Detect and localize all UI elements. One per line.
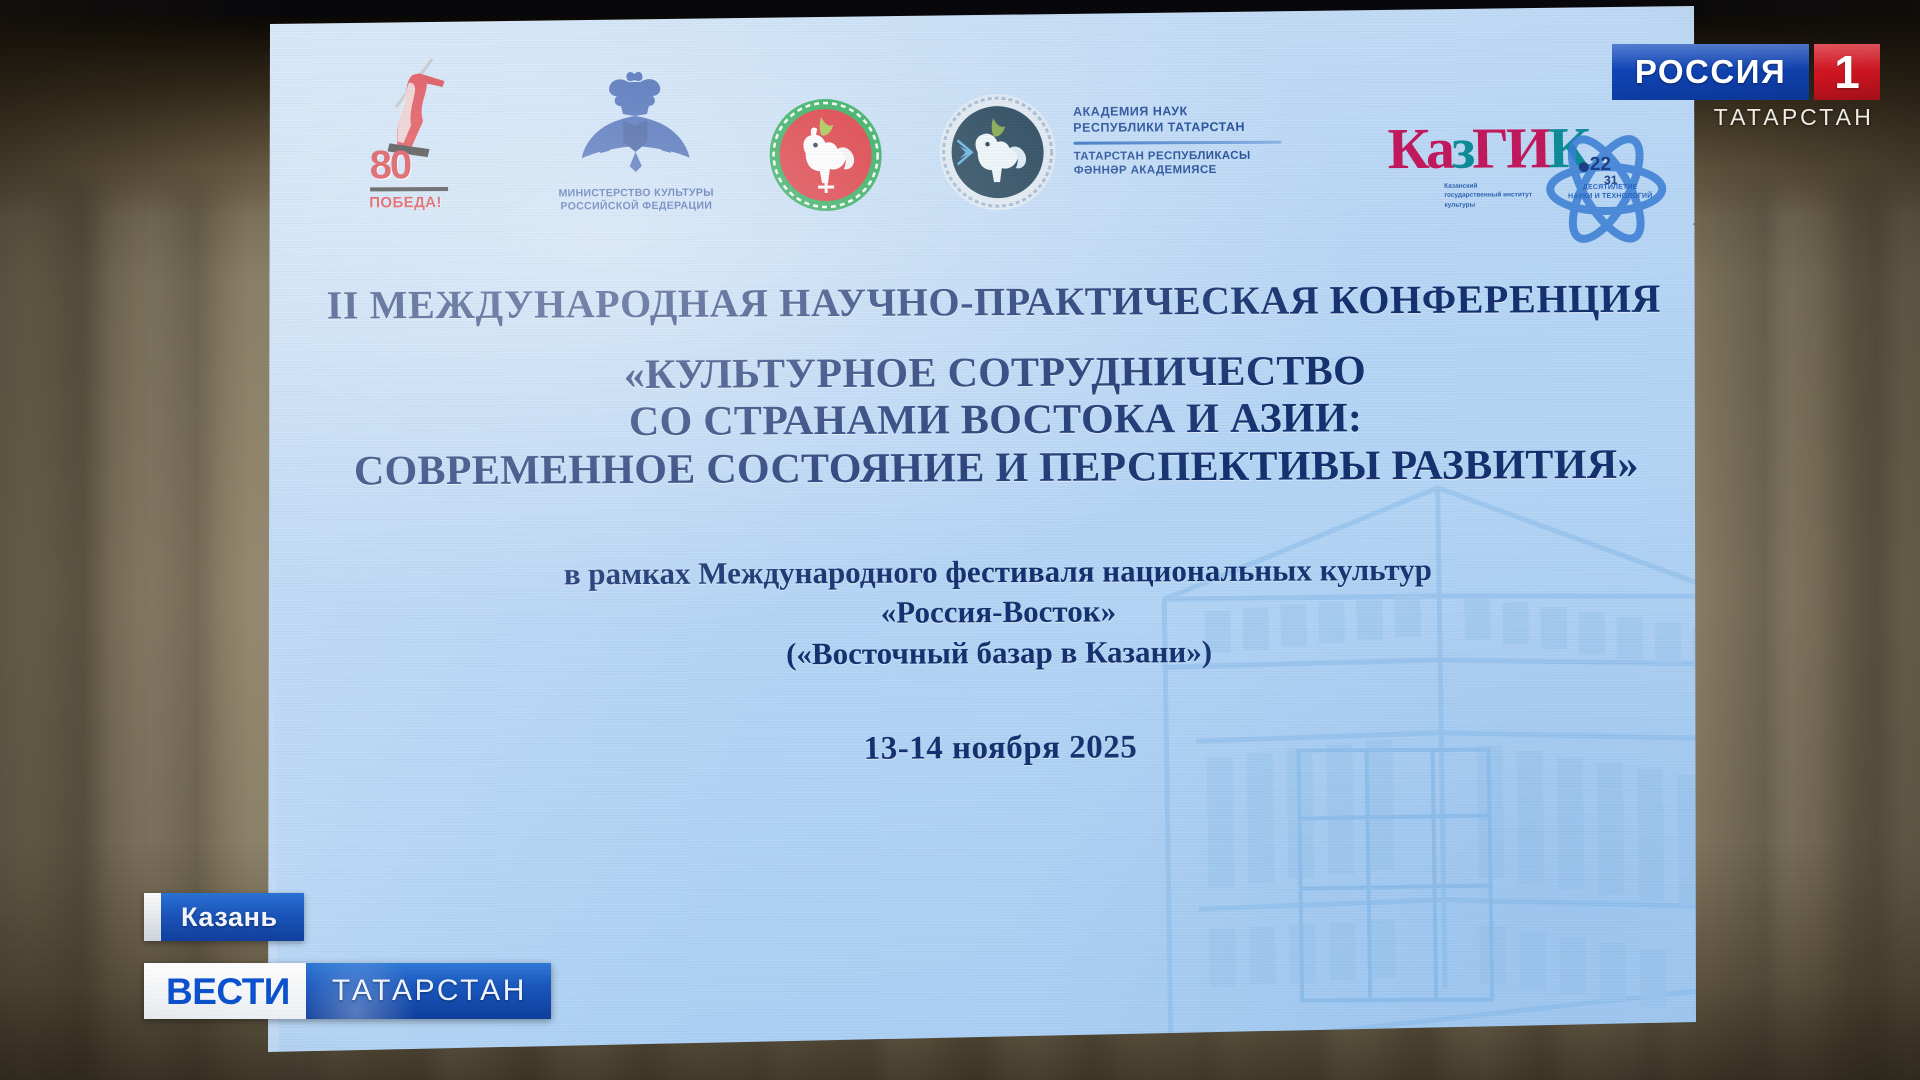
academy-text-block: АКАДЕМИЯ НАУКРЕСПУБЛИКИ ТАТАРСТАН ТАТАРС… xyxy=(1073,102,1364,179)
network-name-block: РОССИЯ xyxy=(1612,44,1809,100)
location-tag: Казань xyxy=(144,893,304,941)
channel-bug-row: РОССИЯ 1 xyxy=(1612,44,1880,100)
conference-theme: «КУЛЬТУРНОЕ СОТРУДНИЧЕСТВО СО СТРАНАМИ В… xyxy=(269,346,1723,496)
kazgik-subtext: Казанскийгосударственный институткультур… xyxy=(1444,181,1538,210)
festival-framework: в рамках Международного фестиваля национ… xyxy=(272,548,1726,676)
location-tag-body: Казань xyxy=(161,893,304,941)
projection-screen: 80 ПОБЕДА! xyxy=(268,6,1696,1052)
academy-name-tt: ТАТАРСТАН РЕСПУБЛИКАСЫФӘННӘР АКАДЕМИЯСЕ xyxy=(1074,148,1364,179)
theme-line-2: СО СТРАНАМИ ВОСТОКА И АЗИИ: xyxy=(269,394,1722,449)
logo-kazgik: КазГИК Казанскийгосударственный институт… xyxy=(1387,119,1539,240)
channel-logo-bug: РОССИЯ 1 ТАТАРСТАН xyxy=(1612,44,1880,130)
logo-academy-of-sciences: АКАДЕМИЯ НАУКРЕСПУБЛИКИ ТАТАРСТАН ТАТАРС… xyxy=(937,90,1369,224)
winged-snow-leopard-emblem-icon xyxy=(767,97,885,214)
pobeda-word: ПОБЕДА! xyxy=(369,194,442,211)
program-name: ВЕСТИ xyxy=(166,973,290,1010)
channel-number: 1 xyxy=(1834,49,1860,95)
program-region: ТАТАРСТАН xyxy=(332,974,527,1008)
framework-line-3: («Восточный базар в Казани») xyxy=(273,629,1726,677)
ministry-caption: МИНИСТЕРСТВО КУЛЬТУРЫРОССИЙСКОЙ ФЕДЕРАЦИ… xyxy=(538,187,734,214)
program-lower-third: ВЕСТИ ТАТАРСТАН xyxy=(144,963,551,1019)
theme-line-1: «КУЛЬТУРНОЕ СОТРУДНИЧЕСТВО xyxy=(269,346,1722,401)
academy-leopard-roundel-icon xyxy=(937,92,1059,213)
russian-double-headed-eagle-icon xyxy=(536,66,734,179)
theme-line-3: СОВРЕМЕННОЕ СОСТОЯНИЕ И ПЕРСПЕКТИВЫ РАЗВ… xyxy=(270,441,1723,496)
academy-divider xyxy=(1073,140,1281,144)
decade-year-from: 22 xyxy=(1590,155,1611,174)
pobeda-rule xyxy=(370,187,448,191)
conference-heading: II МЕЖДУНАРОДНАЯ НАУЧНО-ПРАКТИЧЕСКАЯ КОН… xyxy=(267,274,1720,329)
program-name-block: ВЕСТИ xyxy=(144,963,306,1019)
decade-label: ДЕСЯТИЛЕТИЕНАУКИ И ТЕХНОЛОГИЙ xyxy=(1552,183,1668,202)
conference-dates: 13-14 ноября 2025 xyxy=(274,726,1727,771)
region-name: ТАТАРСТАН xyxy=(1612,104,1880,131)
logo-decade-of-science: 22 31 ДЕСЯТИЛЕТИЕНАУКИ И ТЕХНОЛОГИЙ xyxy=(1541,131,1677,252)
location-name: Казань xyxy=(181,902,278,933)
broadcast-frame: 80 ПОБЕДА! xyxy=(0,0,1920,1080)
channel-number-block: 1 xyxy=(1814,44,1880,100)
presentation-slide: 80 ПОБЕДА! xyxy=(263,0,1731,1080)
network-name: РОССИЯ xyxy=(1635,53,1786,91)
location-tag-accent xyxy=(144,893,161,941)
logo-ministry-of-culture: МИНИСТЕРСТВО КУЛЬТУРЫРОССИЙСКОЙ ФЕДЕРАЦИ… xyxy=(536,66,735,247)
academy-name-ru: АКАДЕМИЯ НАУКРЕСПУБЛИКИ ТАТАРСТАН xyxy=(1073,102,1363,136)
pobeda-number: 80 xyxy=(369,145,410,185)
logo-pobeda-80: 80 ПОБЕДА! xyxy=(368,51,466,211)
program-region-block: ТАТАРСТАН xyxy=(306,963,551,1019)
slide-logo-row: 80 ПОБЕДА! xyxy=(328,35,1672,292)
kazgik-wordmark-icon: КазГИК xyxy=(1387,119,1538,178)
logo-tatarstan-coat-of-arms xyxy=(767,97,885,214)
